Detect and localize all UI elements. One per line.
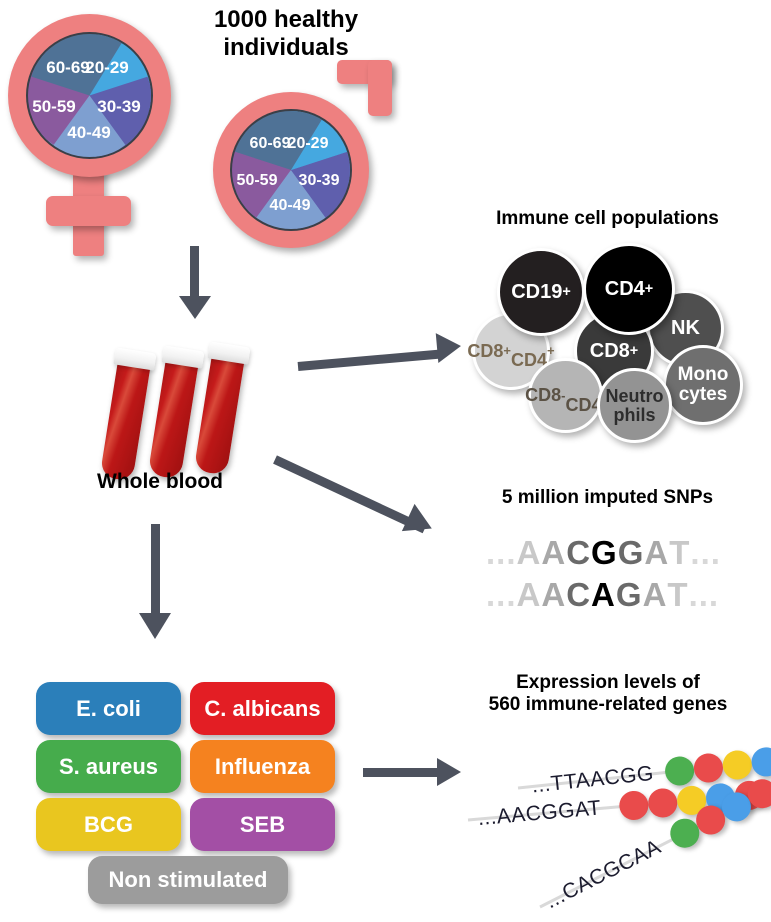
- immune-cell-neutrophils: Neutrophils: [597, 368, 672, 443]
- stimulus-box-c-albicans[interactable]: C. albicans: [190, 682, 335, 735]
- stimulus-box-s-aureus[interactable]: S. aureus: [36, 740, 181, 793]
- female-age-pie-inner: [28, 34, 151, 157]
- female-symbol-crossbar: [46, 196, 131, 226]
- snp-base: G: [616, 576, 643, 614]
- male-age-pie-inner: [232, 111, 350, 229]
- snp-prefix-dots: ...: [486, 534, 517, 572]
- snp-base: A: [644, 534, 669, 572]
- snp-sequence-bottom: ... A A C A G A T ...: [486, 576, 719, 614]
- immune-cell-CD19+: CD19+: [497, 248, 585, 336]
- snp-sequence-top: ... A A C G G A T ...: [486, 534, 721, 572]
- expression-bead: [647, 787, 678, 818]
- stimulus-box-non-stimulated[interactable]: Non stimulated: [88, 856, 288, 904]
- expression-bead: [693, 752, 725, 784]
- section-title-expression: Expression levels of 560 immune-related …: [452, 672, 764, 717]
- snp-base: C: [566, 576, 591, 614]
- arrow-shaft: [190, 246, 199, 298]
- female-age-pie-chart: 20-29 30-39 40-49 50-59 60-69: [26, 32, 153, 159]
- arrow-shaft: [363, 768, 441, 777]
- snp-variant-base: A: [591, 576, 616, 614]
- strand-sequence-label: ...AACGGAT: [477, 796, 602, 831]
- tube-blood-fill: [194, 354, 245, 476]
- arrow-shaft: [273, 455, 426, 533]
- snp-base: A: [541, 534, 566, 572]
- snp-base: A: [643, 576, 668, 614]
- section-title-snps: 5 million imputed SNPs: [455, 487, 760, 509]
- immune-cell-CD8+CD4+: CD8+CD4+: [472, 312, 550, 390]
- snp-base: A: [517, 534, 542, 572]
- whole-blood-tubes: [110, 340, 270, 470]
- snp-base: A: [517, 576, 542, 614]
- snp-base: T: [667, 576, 688, 614]
- arrow-shaft: [298, 349, 443, 371]
- stimulus-box-bcg[interactable]: BCG: [36, 798, 181, 851]
- arrow-shaft: [151, 524, 160, 616]
- strand-sequence-label: ...CACGCAA: [542, 835, 665, 914]
- female-gender-symbol: 20-29 30-39 40-49 50-59 60-69: [0, 0, 200, 260]
- male-symbol-arrowhead-2: [368, 60, 392, 116]
- stimulus-box-e-coli[interactable]: E. coli: [36, 682, 181, 735]
- arrow-head: [179, 296, 211, 319]
- tube-blood-fill: [100, 360, 151, 482]
- immune-cell-CD4+: CD4+: [583, 243, 675, 335]
- immune-cell-NK: NK: [647, 290, 724, 367]
- tube-blood-fill: [148, 358, 199, 480]
- arrow-head: [436, 331, 463, 363]
- snp-base: T: [669, 534, 690, 572]
- expression-bead: [618, 790, 649, 821]
- expression-bead: [664, 755, 696, 787]
- immune-cell-monocytes: Monocytes: [663, 345, 743, 425]
- stimulus-box-seb[interactable]: SEB: [190, 798, 335, 851]
- male-age-pie-chart: 20-29 30-39 40-49 50-59 60-69: [230, 109, 352, 231]
- snp-base: C: [566, 534, 591, 572]
- stimulus-box-influenza[interactable]: Influenza: [190, 740, 335, 793]
- snp-base: G: [618, 534, 645, 572]
- snp-variant-base: G: [591, 534, 618, 572]
- immune-cell-CD8+: CD8+: [574, 311, 654, 391]
- expression-bead: [721, 749, 753, 781]
- arrow-head: [139, 613, 171, 639]
- figure-canvas: 1000 healthy individuals: [0, 0, 771, 922]
- male-gender-symbol: 20-29 30-39 40-49 50-59 60-69: [205, 55, 425, 255]
- snp-prefix-dots: ...: [486, 576, 517, 614]
- snp-suffix-dots: ...: [690, 534, 721, 572]
- section-title-immune-cells: Immune cell populations: [455, 208, 760, 230]
- snp-suffix-dots: ...: [689, 576, 720, 614]
- immune-cell-CD8-CD4-: CD8-CD4-: [528, 358, 603, 433]
- snp-base: A: [541, 576, 566, 614]
- label-whole-blood: Whole blood: [60, 470, 260, 494]
- arrow-head: [402, 504, 438, 542]
- arrow-head: [437, 758, 461, 786]
